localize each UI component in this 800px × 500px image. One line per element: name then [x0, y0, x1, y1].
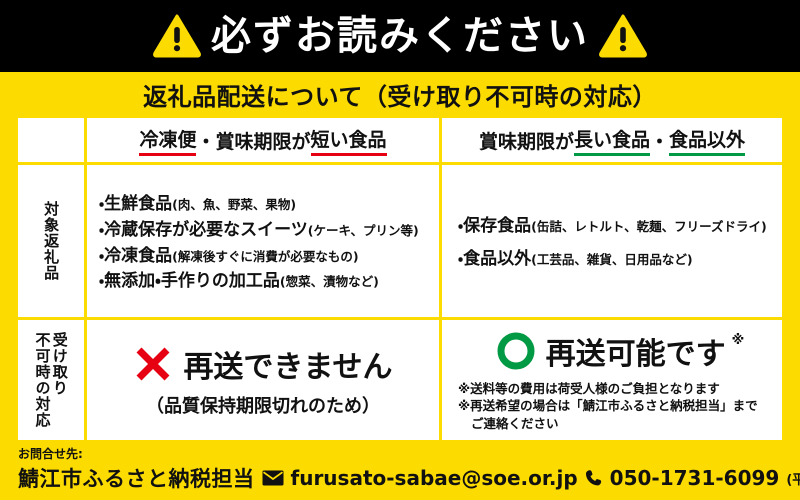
list-item: ・食品以外(工芸品、雑貨、日用品など): [458, 250, 774, 269]
x-mark-icon: [133, 344, 173, 384]
table-row: 対象返礼品 ・生鮮食品(肉、魚、野菜、果物) ・冷蔵保存が必要なスイーツ(ケーキ…: [18, 165, 782, 317]
note-line: ご連絡ください: [458, 416, 758, 431]
table-row: 不可時の対応 受け取り 再送できません （品質: [18, 320, 782, 440]
list-item-sub: (ケーキ、プリン等): [308, 223, 419, 238]
list-item: ・冷凍食品(解凍後すぐに消費が必要なもの): [99, 247, 431, 266]
list-item: ・無添加・手作りの加工品(惣菜、漬物など): [99, 272, 431, 291]
result-superscript-right: ※: [732, 333, 745, 348]
note-line: ※送料等の費用は荷受人様のご負担となります: [458, 381, 758, 396]
result-note-left: （品質保持期限切れのため）: [146, 392, 380, 418]
warning-triangle-icon: [153, 14, 201, 58]
column-header-right: 賞味期限が長い食品・食品以外: [442, 118, 782, 162]
mail-icon: [262, 470, 284, 486]
note-line: ※再送希望の場合は「鯖江市ふるさと納税担当」まで: [458, 398, 758, 413]
target-items-left-cell: ・生鮮食品(肉、魚、野菜、果物) ・冷蔵保存が必要なスイーツ(ケーキ、プリン等)…: [87, 165, 439, 317]
contact-label: お問合せ先:: [18, 447, 800, 461]
result-text-right: 再送可能です: [546, 329, 726, 373]
target-items-right-cell: ・保存食品(缶詰、レトルト、乾麺、フリーズドライ) ・食品以外(工芸品、雑貨、日…: [442, 165, 782, 317]
col-head-left-part3: 短い食品: [311, 125, 387, 156]
table-header-row: 冷凍便・賞味期限が短い食品 賞味期限が長い食品・食品以外: [18, 118, 782, 162]
column-header-left: 冷凍便・賞味期限が短い食品: [87, 118, 439, 162]
footer-contact-bar: お問合せ先: 鯖江市ふるさと納税担当 furusato-sabae@soe.or…: [0, 443, 800, 500]
list-item-sub: (缶詰、レトルト、乾麺、フリーズドライ): [531, 219, 767, 234]
circle-mark-icon: [496, 331, 536, 371]
col-head-left-part2: 賞味期限が: [216, 127, 311, 154]
warning-triangle-icon: [599, 14, 647, 58]
col-head-right-part3: 食品以外: [669, 125, 745, 156]
contact-hours: (平日10:00-17:00対応): [786, 469, 800, 488]
row-label-text-line2: 不可時の対応: [34, 332, 50, 428]
table-corner-cell: [18, 118, 84, 162]
subtitle-band: 返礼品配送について（受け取り不可時の対応）: [0, 72, 800, 116]
col-head-left-part1: 冷凍便: [139, 125, 196, 156]
row-label-text: 対象返礼品: [43, 201, 59, 281]
notice-poster: 必ずお読みください 返礼品配送について（受け取り不可時の対応） 冷凍便・賞味期限…: [0, 0, 800, 500]
page-title: 必ずお読みください: [211, 16, 589, 56]
list-item-main: 保存食品: [463, 216, 531, 236]
result-text-left: 再送できません: [183, 342, 392, 386]
list-item-sub: (解凍後すぐに消費が必要なもの): [172, 249, 358, 264]
row-label-undeliverable-response: 不可時の対応 受け取り: [18, 320, 84, 440]
list-item-sub: (惣菜、漬物など): [280, 274, 379, 289]
subtitle-text: 返礼品配送について（受け取り不可時の対応）: [143, 77, 657, 112]
col-head-right-part1: 賞味期限が: [479, 127, 574, 154]
result-right-cell: 再送可能です ※ ※送料等の費用は荷受人様のご負担となります ※再送希望の場合は…: [442, 320, 782, 440]
list-item: ・保存食品(缶詰、レトルト、乾麺、フリーズドライ): [458, 217, 774, 236]
list-item: ・生鮮食品(肉、魚、野菜、果物): [99, 195, 431, 214]
list-item-main: 食品以外: [463, 249, 531, 269]
list-item-sub: (工芸品、雑貨、日用品など): [531, 252, 692, 267]
list-item-main: 無添加・手作りの加工品: [104, 271, 280, 291]
contact-email[interactable]: furusato-sabae@soe.or.jp: [291, 466, 578, 490]
header-bar: 必ずお読みください: [0, 0, 800, 72]
contact-organization: 鯖江市ふるさと納税担当: [18, 463, 255, 493]
list-item-main: 冷蔵保存が必要なスイーツ: [104, 220, 308, 240]
col-head-right-part2: 長い食品: [574, 125, 650, 156]
list-item-main: 冷凍食品: [104, 246, 172, 266]
result-left-cell: 再送できません （品質保持期限切れのため）: [87, 320, 439, 440]
col-head-left-sep: ・: [196, 127, 215, 154]
phone-icon: [585, 469, 603, 487]
list-item-main: 生鮮食品: [104, 194, 172, 214]
list-item-sub: (肉、魚、野菜、果物): [172, 197, 296, 212]
col-head-right-sep: ・: [650, 127, 669, 154]
contact-phone[interactable]: 050-1731-6099: [610, 466, 780, 490]
list-item: ・冷蔵保存が必要なスイーツ(ケーキ、プリン等): [99, 221, 431, 240]
result-notes-right: ※送料等の費用は荷受人様のご負担となります ※再送希望の場合は「鯖江市ふるさと納…: [458, 381, 758, 431]
row-label-target-items: 対象返礼品: [18, 165, 84, 317]
row-label-text-line1: 受け取り: [52, 332, 68, 428]
comparison-table: 冷凍便・賞味期限が短い食品 賞味期限が長い食品・食品以外 対象返礼品 ・生鮮食品…: [18, 118, 782, 440]
